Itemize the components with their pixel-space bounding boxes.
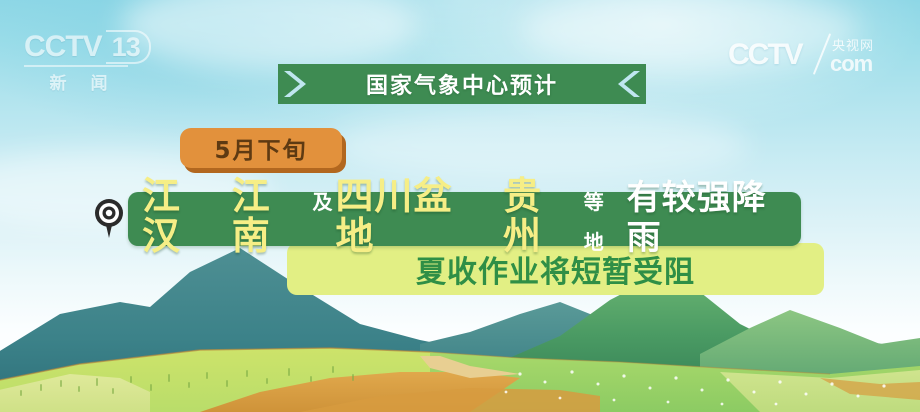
watermark-brand-text: CCTV [728, 38, 802, 72]
banner-label: 国家气象中心预计 [278, 64, 646, 104]
cctv-com-watermark: CCTV 央视网 com [728, 34, 898, 78]
date-range-pill: 5月下旬 [180, 128, 342, 168]
broadcast-screen: CCTV 13 新 闻 CCTV 央视网 com 国家气象中心预计 5月下旬 夏… [0, 0, 920, 412]
cloud-wisp [330, 110, 750, 180]
conjunction-ji: 及 [312, 182, 332, 222]
location-pin-icon [92, 196, 126, 240]
watermark-slash-icon [813, 33, 831, 75]
region-jiangnan: 江南 [232, 176, 310, 256]
channel-number: 13 [106, 30, 151, 64]
cctv-brand-text: CCTV [24, 32, 102, 62]
region-sichuan-basin: 四川盆地 [335, 176, 491, 256]
channel-name-cn: 新 闻 [24, 69, 142, 94]
region-guizhou: 贵州 [503, 176, 581, 256]
date-pill-label: 5月下旬 [180, 128, 342, 168]
watermark-com-text: com [830, 51, 872, 77]
suffix-dengdi: 等地 [584, 182, 624, 262]
cctv13-channel-logo: CCTV 13 新 闻 [24, 30, 204, 92]
headline-primary-band: 江汉 江南 及 四川盆地 贵州 等地 有较强降雨 [128, 192, 801, 246]
forecast-source-banner: 国家气象中心预计 [278, 64, 646, 104]
cctv13-wordmark: CCTV 13 [24, 30, 204, 64]
logo-underline [24, 65, 128, 67]
region-jianghan: 江汉 [142, 176, 220, 256]
headline-line1: 江汉 江南 及 四川盆地 贵州 等地 有较强降雨 [142, 176, 801, 262]
forecast-predicate: 有较强降雨 [627, 178, 801, 258]
